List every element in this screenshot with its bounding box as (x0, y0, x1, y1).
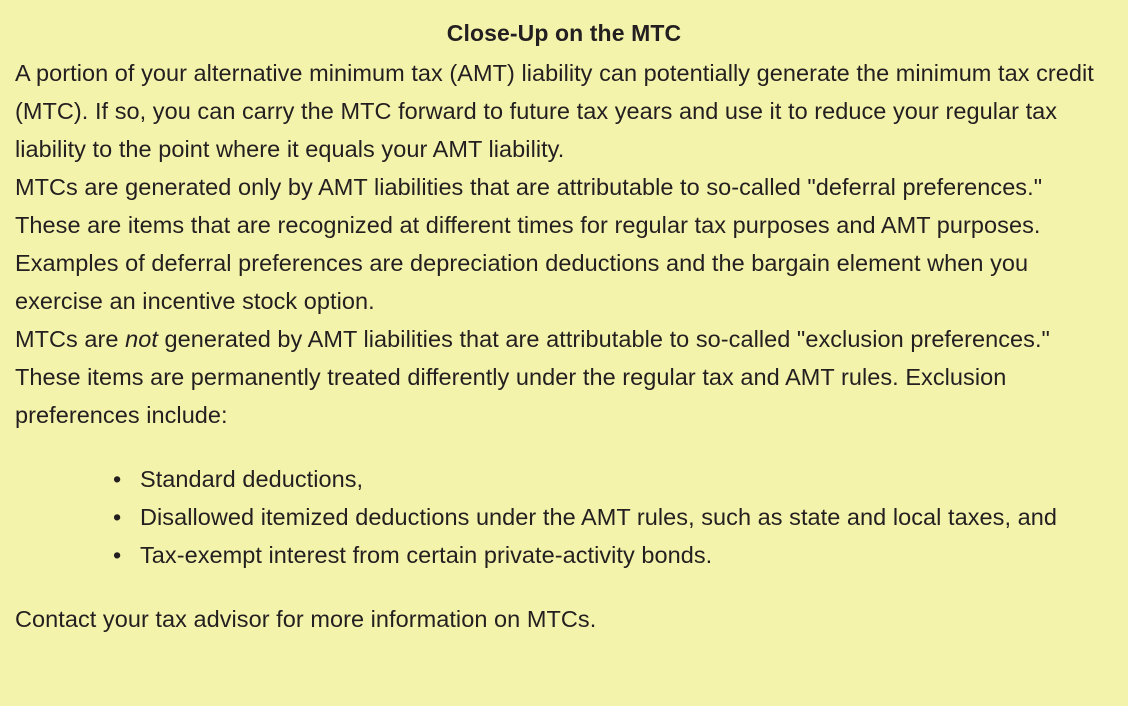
paragraph-exclusion-emphasis: not (125, 326, 158, 352)
closing-advisory-text: Contact your tax advisor for more inform… (15, 600, 1113, 638)
paragraph-deferral-preferences: MTCs are generated only by AMT liabiliti… (15, 168, 1113, 320)
paragraph-exclusion-rest: generated by AMT liabilities that are at… (15, 326, 1050, 428)
list-item: • Tax-exempt interest from certain priva… (15, 536, 1113, 574)
paragraph-mtc-overview: A portion of your alternative minimum ta… (15, 54, 1113, 168)
exclusion-preferences-list: • Standard deductions, • Disallowed item… (15, 460, 1113, 574)
paragraph-exclusion-lead: MTCs are (15, 326, 125, 352)
list-item-label: Disallowed itemized deductions under the… (140, 504, 1057, 530)
list-item-label: Tax-exempt interest from certain private… (140, 542, 712, 568)
list-item-label: Standard deductions, (140, 466, 363, 492)
list-item: • Disallowed itemized deductions under t… (15, 498, 1113, 536)
list-item: • Standard deductions, (15, 460, 1113, 498)
paragraph-exclusion-preferences: MTCs are not generated by AMT liabilitie… (15, 320, 1113, 434)
mtc-callout-box: Close-Up on the MTC A portion of your al… (0, 0, 1128, 706)
bullet-icon: • (113, 536, 121, 574)
bullet-icon: • (113, 498, 121, 536)
callout-title: Close-Up on the MTC (15, 18, 1113, 48)
bullet-icon: • (113, 460, 121, 498)
